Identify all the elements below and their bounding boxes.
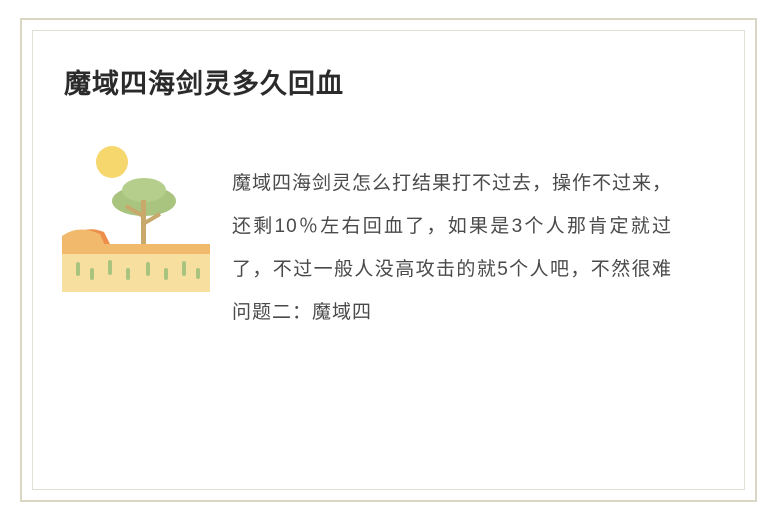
content-card: 魔域四海剑灵多久回血 bbox=[20, 18, 757, 502]
page-title: 魔域四海剑灵多久回血 bbox=[64, 62, 344, 101]
ground-main bbox=[62, 254, 210, 292]
ground-band bbox=[62, 244, 210, 254]
landscape-illustration bbox=[60, 138, 212, 298]
sun-icon bbox=[96, 146, 128, 178]
tree-foliage-top-icon bbox=[122, 178, 166, 202]
article-body: 魔域四海剑灵怎么打结果打不过去，操作不过来，还剩10％左右回血了，如果是3个人那… bbox=[232, 162, 672, 334]
